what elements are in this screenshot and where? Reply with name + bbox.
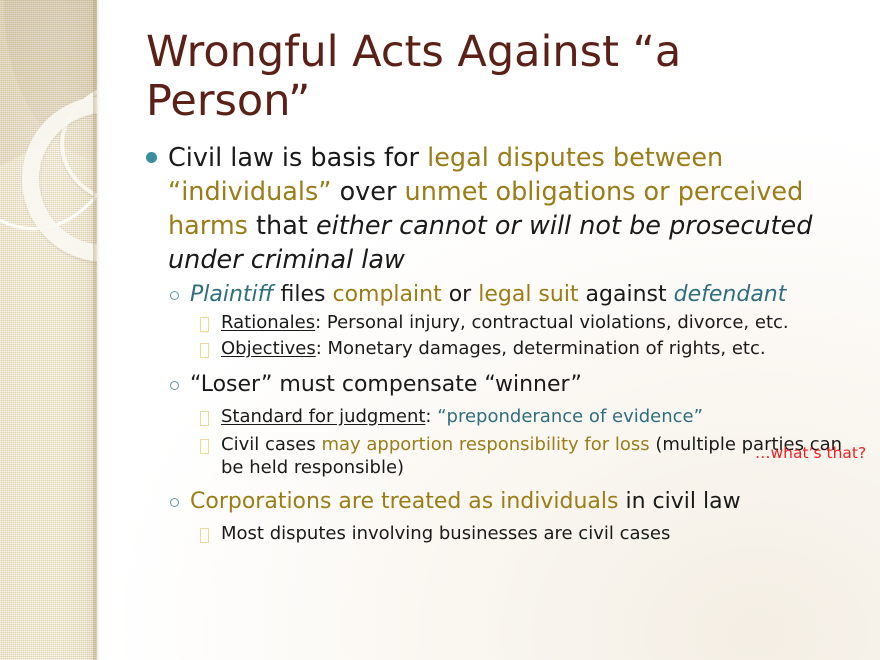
bullet-circle-outline-icon: [170, 381, 179, 390]
text-run-underline: Objectives: [221, 338, 316, 359]
text-run-gold: legal suit: [478, 282, 578, 307]
text-run: or: [442, 282, 479, 307]
bullet-box-icon: [200, 528, 209, 543]
text-run: files: [274, 282, 333, 307]
text-run: against: [579, 282, 674, 307]
text-run-underline: Standard for judgment: [221, 406, 425, 427]
bullet-circle-outline-icon: [170, 498, 179, 507]
bullet-level3-text: Rationales: Personal injury, contractual…: [221, 312, 868, 335]
text-run-teal: “preponderance of evidence”: [437, 406, 703, 427]
bullet-level2-loser-compensates: “Loser” must compensate “winner”: [170, 371, 868, 400]
bullet-level3-objectives: Objectives: Monetary damages, determinat…: [200, 338, 868, 361]
bullet-box-icon: [200, 317, 209, 332]
bullet-circle-outline-icon: [170, 291, 179, 300]
decorative-left-band: [0, 0, 97, 660]
bullet-level2-text: Corporations are treated as individuals …: [190, 488, 868, 517]
slide-title: Wrongful Acts Against “a Person”: [146, 28, 846, 127]
bullet-level2-corporations: Corporations are treated as individuals …: [170, 488, 868, 517]
text-run-gold: Corporations are treated as individuals: [190, 489, 618, 514]
text-run: that: [248, 211, 316, 241]
text-run-teal-italic: defendant: [674, 282, 787, 307]
bullet-level2-plaintiff: Plaintiff files complaint or legal suit …: [170, 281, 868, 310]
text-run: : Personal injury, contractual violation…: [315, 312, 789, 333]
bullet-box-icon: [200, 343, 209, 358]
text-run: Civil cases: [221, 434, 321, 455]
bullet-level3-text: Objectives: Monetary damages, determinat…: [221, 338, 868, 361]
band-edge-shadow: [93, 0, 100, 660]
bullet-level1-text: Civil law is basis for legal disputes be…: [168, 142, 868, 278]
bullet-box-icon: [200, 439, 209, 454]
slide-body: Civil law is basis for legal disputes be…: [146, 142, 868, 546]
bullet-level3-text: Most disputes involving businesses are c…: [221, 523, 868, 546]
bullet-level3-standard-for-judgment: Standard for judgment: “preponderance of…: [200, 406, 868, 429]
text-run-gold: may apportion responsibility for loss: [321, 434, 649, 455]
aside-annotation-whats-that: …what’s that?: [755, 444, 866, 462]
text-run: : Monetary damages, determination of rig…: [316, 338, 766, 359]
bullet-level1-civil-law: Civil law is basis for legal disputes be…: [146, 142, 868, 278]
bullet-level3-most-disputes: Most disputes involving businesses are c…: [200, 523, 868, 546]
bullet-level2-text: “Loser” must compensate “winner”: [190, 371, 868, 400]
text-run-underline: Rationales: [221, 312, 315, 333]
text-run-teal-italic: Plaintiff: [190, 282, 274, 307]
bullet-level2-text: Plaintiff files complaint or legal suit …: [190, 281, 868, 310]
text-run: over: [331, 177, 404, 207]
text-run: Civil law is basis for: [168, 143, 427, 173]
bullet-box-icon: [200, 411, 209, 426]
text-run: in civil law: [618, 489, 740, 514]
text-run: :: [425, 406, 437, 427]
bullet-level3-rationales: Rationales: Personal injury, contractual…: [200, 312, 868, 335]
bullet-level3-text: Standard for judgment: “preponderance of…: [221, 406, 868, 429]
text-run-gold: complaint: [332, 282, 441, 307]
slide-canvas: Wrongful Acts Against “a Person” Civil l…: [0, 0, 880, 660]
bullet-dot-icon: [146, 152, 157, 163]
